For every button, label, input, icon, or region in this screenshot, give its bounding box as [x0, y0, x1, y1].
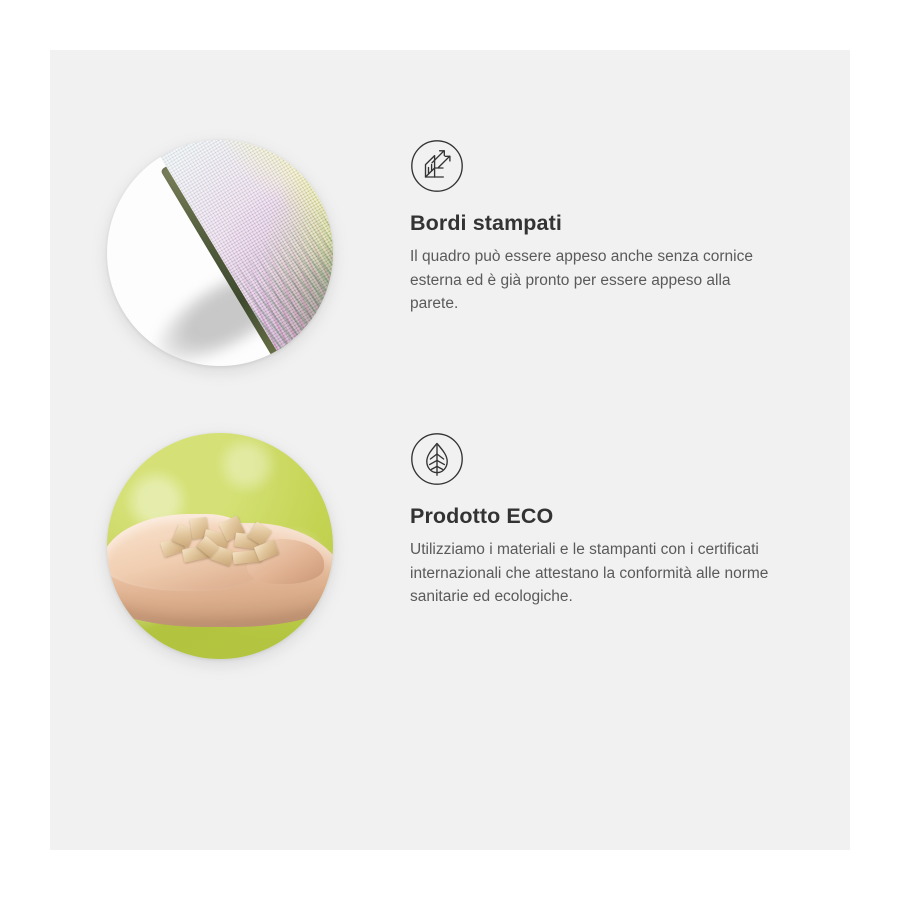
leaf-icon — [410, 432, 464, 486]
feature-description: Utilizziamo i materiali e le stampanti c… — [410, 538, 782, 609]
feature-copy-printed-edges: Bordi stampati Il quadro può essere appe… — [410, 135, 782, 316]
hand-with-wood-chips-photo-circle — [107, 433, 333, 659]
feature-title: Bordi stampati — [410, 211, 782, 236]
wood-chips-pile — [157, 514, 288, 573]
hand-with-wood-chips-photo — [100, 428, 340, 668]
printed-edges-icon — [410, 139, 464, 193]
canvas-corner-photo-circle — [107, 140, 333, 366]
feature-block-printed-edges: Bordi stampati Il quadro può essere appe… — [100, 135, 782, 375]
product-feature-infographic: Bordi stampati Il quadro può essere appe… — [0, 0, 900, 900]
feature-block-eco-product: Prodotto ECO Utilizziamo i materiali e l… — [100, 428, 782, 668]
feature-description: Il quadro può essere appeso anche senza … — [410, 245, 782, 316]
canvas-corner-photo — [100, 135, 340, 375]
feature-title: Prodotto ECO — [410, 504, 782, 529]
feature-copy-eco-product: Prodotto ECO Utilizziamo i materiali e l… — [410, 428, 782, 609]
